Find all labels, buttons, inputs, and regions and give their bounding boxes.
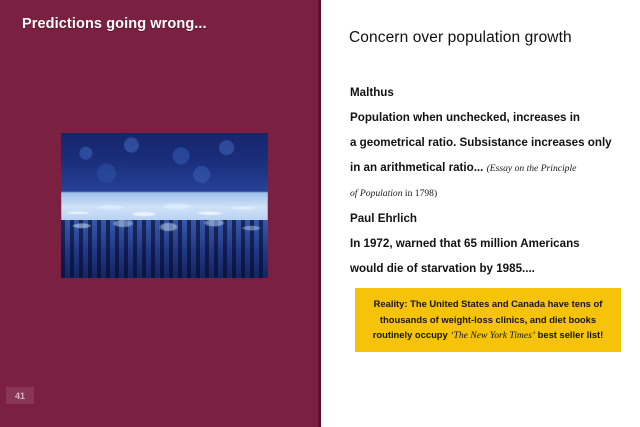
citation-work-title: of Population xyxy=(350,188,403,199)
callout-line-2: thousands of weight-loss clinics, and di… xyxy=(380,312,596,328)
malthus-citation-part-2: of Population in 1798) xyxy=(350,181,632,206)
ehrlich-claim-line-1: In 1972, warned that 65 million American… xyxy=(350,231,632,256)
page-title: Concern over population growth xyxy=(349,29,572,47)
callout-line-3-post: best seller list! xyxy=(538,329,604,340)
callout-line-3-pre: routinely occupy xyxy=(373,329,448,340)
ehrlich-name: Paul Ehrlich xyxy=(350,206,632,231)
malthus-quote-line-1: Population when unchecked, increases in xyxy=(350,105,632,130)
slide-canvas: Predictions going wrong... 41 Concern ov… xyxy=(0,0,640,427)
body-text-block: Malthus Population when unchecked, incre… xyxy=(350,80,632,281)
malthus-citation-part-1: (Essay on the Principle xyxy=(487,163,577,174)
right-content-panel: Concern over population growth Malthus P… xyxy=(321,0,640,427)
callout-line-1: Reality: The United States and Canada ha… xyxy=(374,296,603,312)
photo-dark-treeline xyxy=(61,133,268,200)
malthus-quote-line-3: in an arithmetical ratio... (Essay on th… xyxy=(350,155,632,181)
ehrlich-claim-line-2: would die of starvation by 1985.... xyxy=(350,256,632,281)
malthus-quote-tail: in an arithmetical ratio... xyxy=(350,161,483,174)
slide-number-badge: 41 xyxy=(6,387,34,404)
callout-nyt-title: ‘The New York Times’ xyxy=(450,330,535,341)
winter-forest-photo xyxy=(61,133,268,278)
callout-line-3: routinely occupy ‘The New York Times’ be… xyxy=(373,327,604,344)
malthus-name: Malthus xyxy=(350,80,632,105)
slide-title: Predictions going wrong... xyxy=(22,16,207,32)
citation-year: in 1798) xyxy=(405,188,437,199)
reality-callout-box: Reality: The United States and Canada ha… xyxy=(355,288,621,352)
photo-foreground-trees xyxy=(61,220,268,278)
malthus-quote-line-2: a geometrical ratio. Subsistance increas… xyxy=(350,130,632,155)
